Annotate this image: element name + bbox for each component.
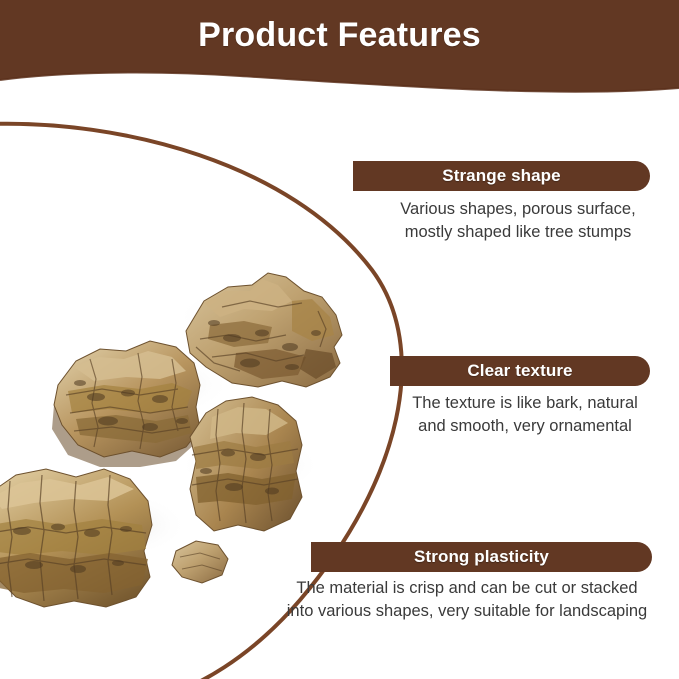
feature-3-title-pill: Strong plasticity <box>311 542 652 572</box>
feature-2-description: The texture is like bark, natural and sm… <box>380 392 670 438</box>
feature-1-title-pill: Strange shape <box>353 161 650 191</box>
feature-2-title-pill: Clear texture <box>390 356 650 386</box>
header-shape <box>0 0 679 92</box>
feature-1-description: Various shapes, porous surface, mostly s… <box>373 198 663 244</box>
product-features-infographic: Product Features Strange shape Various s… <box>0 0 679 679</box>
header-band <box>0 0 679 110</box>
feature-1-title: Strange shape <box>442 166 560 186</box>
feature-3-title: Strong plasticity <box>414 547 549 567</box>
feature-3-description: The material is crisp and can be cut or … <box>262 577 672 623</box>
feature-2-title: Clear texture <box>467 361 572 381</box>
